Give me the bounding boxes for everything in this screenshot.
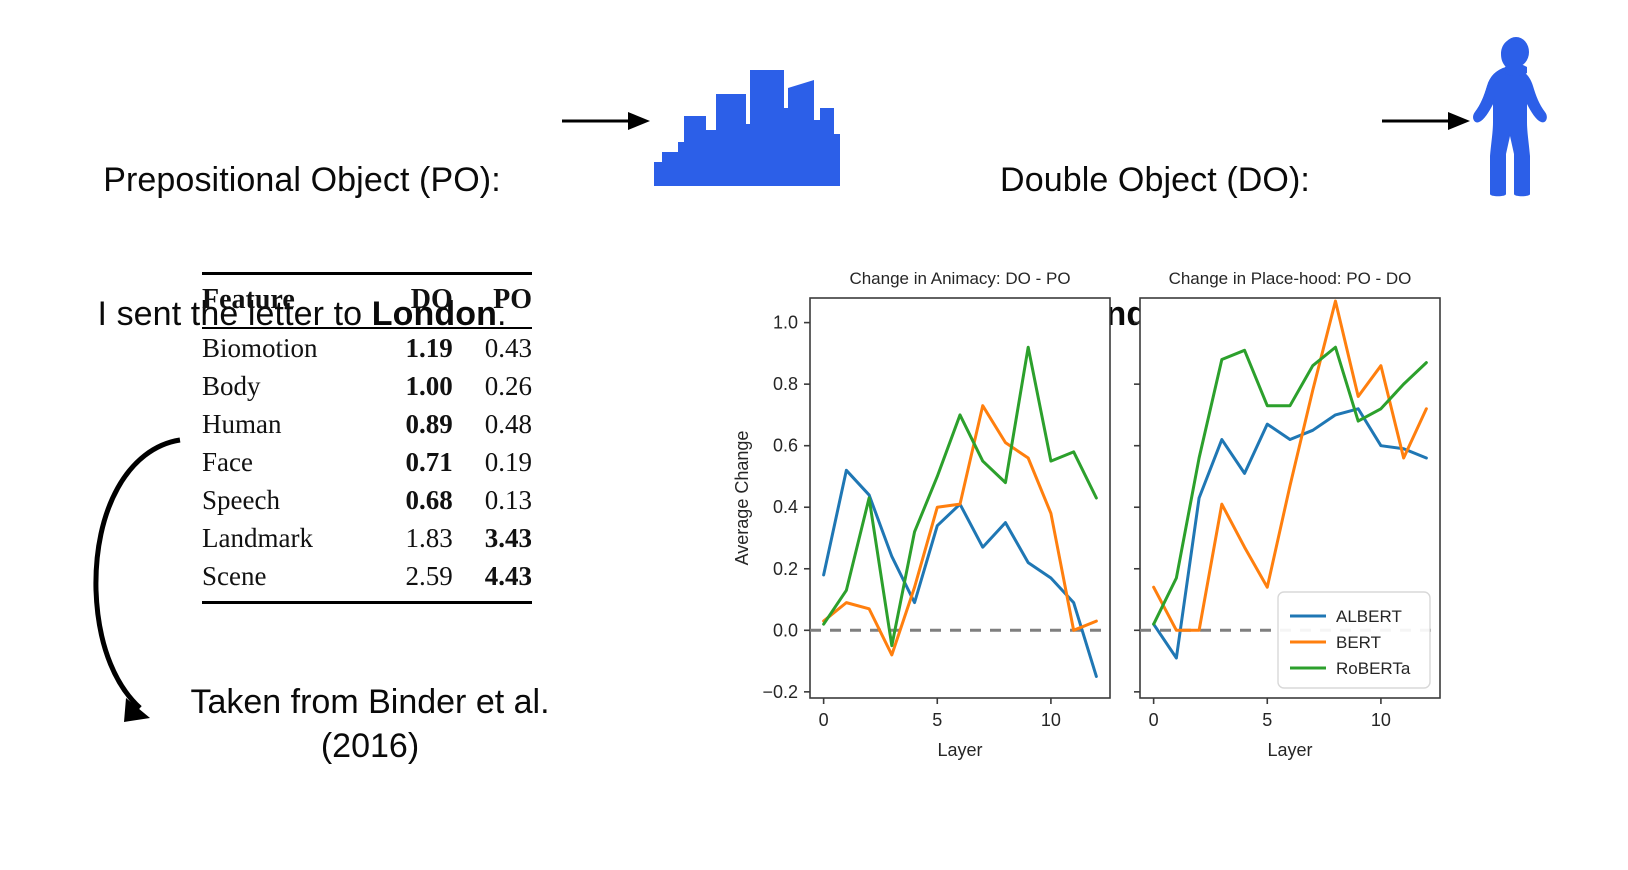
- cell-do: 1.00: [374, 367, 453, 405]
- table-header-feature: Feature: [202, 274, 374, 329]
- table-body: Biomotion1.190.43Body1.000.26Human0.890.…: [202, 328, 532, 595]
- cell-do: 1.19: [374, 328, 453, 367]
- cell-feature: Speech: [202, 481, 374, 519]
- y-tick-label: 0.2: [773, 559, 798, 579]
- table-source-caption: Taken from Binder et al. (2016): [155, 680, 585, 768]
- x-tick-label: 5: [932, 710, 942, 730]
- x-axis-label: Layer: [937, 740, 982, 760]
- y-tick-label: 0.0: [773, 620, 798, 640]
- legend-label-albert[interactable]: ALBERT: [1336, 607, 1402, 626]
- legend-label-roberta[interactable]: RoBERTa: [1336, 659, 1411, 678]
- cell-feature: Face: [202, 443, 374, 481]
- cell-po: 0.26: [453, 367, 532, 405]
- cell-po: 0.48: [453, 405, 532, 443]
- chart-panel-0: Change in Animacy: DO - PO−0.20.00.20.40…: [732, 269, 1110, 760]
- po-arrow: [562, 108, 652, 134]
- y-tick-label: 0.4: [773, 497, 798, 517]
- cell-do: 0.68: [374, 481, 453, 519]
- x-tick-label: 10: [1041, 710, 1061, 730]
- table-header-po: PO: [453, 274, 532, 329]
- cell-po: 0.43: [453, 328, 532, 367]
- table-row: Speech0.680.13: [202, 481, 532, 519]
- table-row: Body1.000.26: [202, 367, 532, 405]
- table-row: Human0.890.48: [202, 405, 532, 443]
- cell-po: 0.19: [453, 443, 532, 481]
- chart-title: Change in Place-hood: PO - DO: [1169, 269, 1412, 288]
- table-row: Biomotion1.190.43: [202, 328, 532, 367]
- table-row: Landmark1.833.43: [202, 519, 532, 557]
- cell-do: 2.59: [374, 557, 453, 595]
- table-header-do: DO: [374, 274, 453, 329]
- cell-po: 4.43: [453, 557, 532, 595]
- x-tick-label: 0: [819, 710, 829, 730]
- x-axis-label: Layer: [1267, 740, 1312, 760]
- table-bottom-rule: [202, 601, 532, 604]
- do-label: Double Object (DO):: [920, 158, 1390, 203]
- table-row: Scene2.594.43: [202, 557, 532, 595]
- y-axis-label: Average Change: [732, 431, 752, 566]
- po-label: Prepositional Object (PO):: [42, 158, 562, 203]
- y-tick-label: 0.6: [773, 436, 798, 456]
- cell-feature: Landmark: [202, 519, 374, 557]
- y-tick-label: −0.2: [762, 682, 798, 702]
- cell-po: 0.13: [453, 481, 532, 519]
- x-tick-label: 0: [1149, 710, 1159, 730]
- cell-do: 0.89: [374, 405, 453, 443]
- chart-panel-1: Change in Place-hood: PO - DO0510LayerAL…: [1134, 269, 1440, 760]
- cell-feature: Human: [202, 405, 374, 443]
- binder-feature-table: Feature DO PO Biomotion1.190.43Body1.000…: [202, 272, 532, 604]
- do-arrow: [1382, 108, 1472, 134]
- cell-do: 1.83: [374, 519, 453, 557]
- y-tick-label: 0.8: [773, 374, 798, 394]
- table-row: Face0.710.19: [202, 443, 532, 481]
- charts-svg: Change in Animacy: DO - PO−0.20.00.20.40…: [690, 250, 1590, 810]
- y-tick-label: 1.0: [773, 313, 798, 333]
- layerwise-change-figure: Change in Animacy: DO - PO−0.20.00.20.40…: [690, 250, 1590, 810]
- legend-label-bert[interactable]: BERT: [1336, 633, 1381, 652]
- chart-title: Change in Animacy: DO - PO: [849, 269, 1070, 288]
- x-tick-label: 10: [1371, 710, 1391, 730]
- cell-feature: Body: [202, 367, 374, 405]
- cell-feature: Biomotion: [202, 328, 374, 367]
- x-tick-label: 5: [1262, 710, 1272, 730]
- city-skyline-icon: [654, 68, 840, 191]
- cell-do: 0.71: [374, 443, 453, 481]
- slide-canvas: Prepositional Object (PO): I sent the le…: [0, 0, 1628, 870]
- cell-po: 3.43: [453, 519, 532, 557]
- cell-feature: Scene: [202, 557, 374, 595]
- person-silhouette-icon: [1466, 36, 1566, 203]
